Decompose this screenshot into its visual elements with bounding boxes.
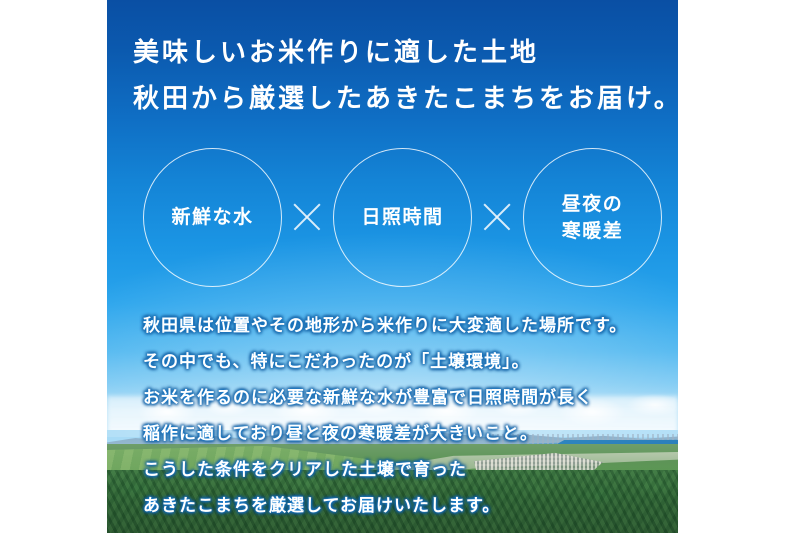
feature-circle-temperature-range-line-2: 寒暖差: [562, 218, 624, 245]
banner-body-copy: 秋田県は位置やその地形から米作りに大変適した場所です。 その中でも、特にこだわっ…: [107, 308, 678, 524]
body-line-5: こうした条件をクリアした土壌で育った: [143, 452, 642, 488]
feature-circle-sunshine-hours: 日照時間: [333, 148, 472, 287]
body-line-6: あきたこまちを厳選してお届けいたします。: [143, 488, 642, 524]
feature-circle-fresh-water-label: 新鮮な水: [171, 204, 253, 231]
feature-circle-temperature-range-label: 昼夜の 寒暖差: [562, 191, 624, 245]
feature-circle-temperature-range: 昼夜の 寒暖差: [523, 148, 662, 287]
multiply-icon-1: [289, 199, 325, 235]
body-line-2: その中でも、特にこだわったのが「土壌環境」。: [143, 344, 642, 380]
page-canvas: 美味しいお米作りに適した土地 秋田から厳選したあきたこまちをお届け。 新鮮な水 …: [0, 0, 800, 533]
headline-line-1: 美味しいお米作りに適した土地: [133, 30, 652, 76]
headline-line-2: 秋田から厳選したあきたこまちをお届け。: [133, 76, 652, 122]
promo-banner-image: 美味しいお米作りに適した土地 秋田から厳選したあきたこまちをお届け。 新鮮な水 …: [107, 0, 678, 533]
body-line-3: お米を作るのに必要な新鮮な水が豊富で日照時間が長く: [143, 380, 642, 416]
banner-headline: 美味しいお米作りに適した土地 秋田から厳選したあきたこまちをお届け。: [107, 30, 678, 122]
body-line-4: 稲作に適しており昼と夜の寒暖差が大きいこと。: [143, 416, 642, 452]
feature-circle-temperature-range-line-1: 昼夜の: [562, 191, 624, 218]
feature-circles-row: 新鮮な水 日照時間 昼夜の 寒暖差: [107, 148, 678, 288]
multiply-icon-2: [479, 199, 515, 235]
feature-circle-sunshine-hours-label: 日照時間: [361, 204, 443, 231]
body-line-1: 秋田県は位置やその地形から米作りに大変適した場所です。: [143, 308, 642, 344]
feature-circle-fresh-water: 新鮮な水: [143, 148, 282, 287]
